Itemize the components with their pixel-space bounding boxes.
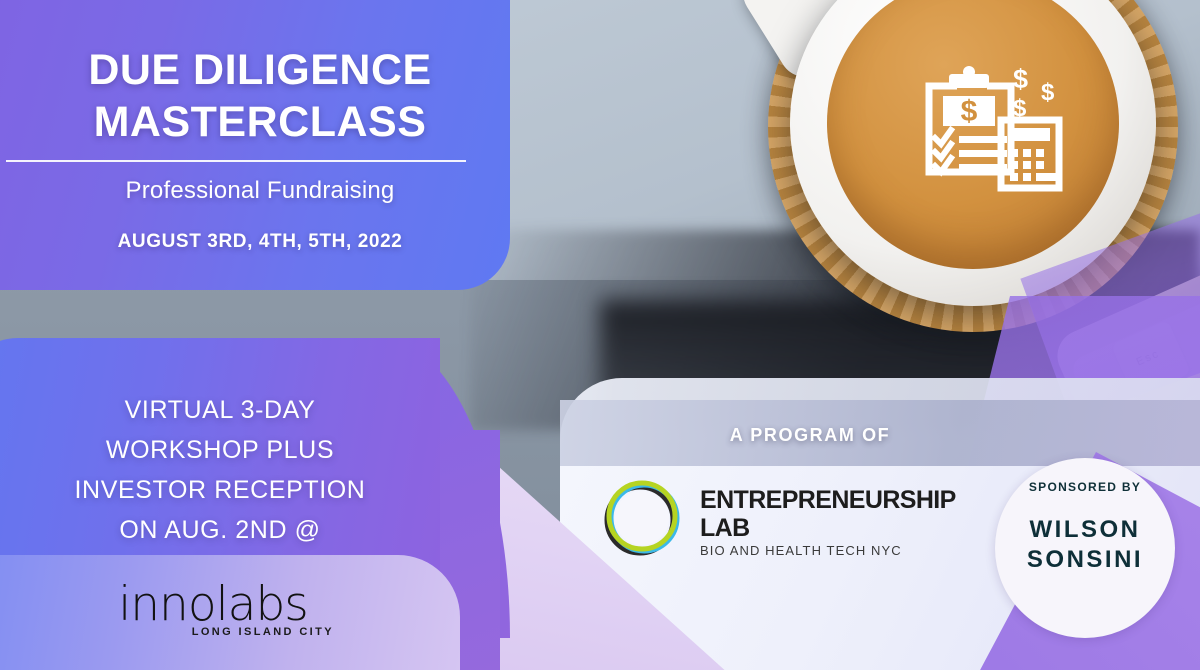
event-details: VIRTUAL 3-DAY WORKSHOP PLUS INVESTOR REC… xyxy=(0,390,440,550)
svg-text:$: $ xyxy=(1041,79,1055,106)
clipboard-dollar-icon: $ xyxy=(915,62,1075,212)
program-of-label: A PROGRAM OF xyxy=(560,425,1060,446)
title-line-2: MASTERCLASS xyxy=(0,96,520,148)
innolabs-wordmark: innolabs xyxy=(88,580,338,630)
elab-ring-icon xyxy=(600,476,684,560)
sponsor-name: WILSON SONSINI xyxy=(995,515,1175,575)
sponsored-by-label: SPONSORED BY xyxy=(995,480,1175,494)
detail-line: INVESTOR RECEPTION xyxy=(0,470,440,510)
detail-line: VIRTUAL 3-DAY xyxy=(0,390,440,430)
title-divider xyxy=(6,160,466,162)
subtitle: Professional Fundraising xyxy=(0,177,520,205)
sponsor-name-line-1: WILSON xyxy=(995,515,1175,545)
event-poster: $ xyxy=(0,0,1200,670)
entrepreneurship-lab-logo: ENTREPRENEURSHIP LAB BIO AND HEALTH TECH… xyxy=(600,476,930,560)
detail-line: WORKSHOP PLUS xyxy=(0,430,440,470)
dollar-signs-icon: $ $ $ xyxy=(1013,64,1055,122)
elab-text: ENTREPRENEURSHIP LAB BIO AND HEALTH TECH… xyxy=(700,486,955,560)
elab-tagline: BIO AND HEALTH TECH NYC xyxy=(700,542,955,560)
sponsor-name-line-2: SONSINI xyxy=(995,545,1175,575)
detail-line: ON AUG. 2ND @ xyxy=(0,510,440,550)
svg-text:$: $ xyxy=(1013,64,1028,94)
elab-name: ENTREPRENEURSHIP LAB xyxy=(700,486,955,542)
event-dates: AUGUST 3RD, 4TH, 5TH, 2022 xyxy=(0,231,520,253)
svg-text:$: $ xyxy=(961,95,978,128)
page-title: DUE DILIGENCE MASTERCLASS xyxy=(0,44,520,148)
innolabs-logo: innolabs LONG ISLAND CITY xyxy=(88,580,338,638)
title-line-1: DUE DILIGENCE xyxy=(0,44,520,96)
svg-text:$: $ xyxy=(1013,95,1027,122)
